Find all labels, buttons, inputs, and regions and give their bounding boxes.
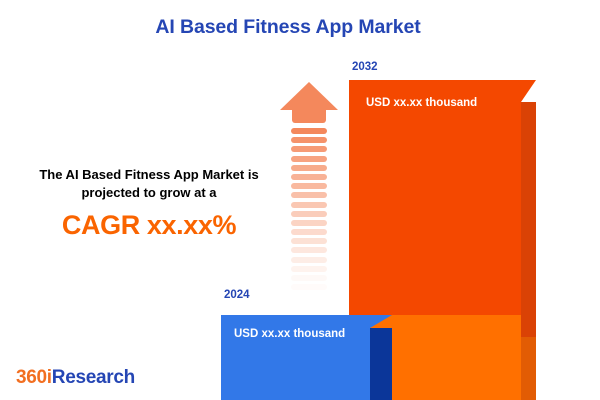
bar-2024-value-label: USD xx.xx thousand [234,328,345,340]
infographic-canvas: AI Based Fitness App Market The AI Based… [0,0,600,400]
arrow-segment [291,229,327,235]
arrow-segment [291,284,327,290]
arrow-segment [291,174,327,180]
arrow-segment [291,192,327,198]
arrow-segment [291,257,327,263]
arrow-segment [291,183,327,189]
arrow-segment [291,275,327,281]
bar-2024-year-label: 2024 [224,289,250,301]
logo-suffix: Research [52,367,135,388]
bar-2032-value-label: USD xx.xx thousand [366,97,477,109]
bar-2032-side-lower-face [521,337,536,400]
arrow-segment [291,128,327,134]
growth-arrow-icon [280,82,338,297]
arrow-head-icon [280,82,338,128]
arrow-segment [291,220,327,226]
bar-2032-year-label: 2032 [352,61,378,73]
arrow-segment [291,247,327,253]
bar-2024-side-face [370,328,392,400]
statement-lead-text: The AI Based Fitness App Market is proje… [18,166,280,201]
cagr-value: CAGR xx.xx% [18,210,280,241]
logo-prefix: 360i [16,367,52,388]
bar-2024-chamfer [370,315,392,328]
arrow-segment [291,266,327,272]
arrow-segment [291,202,327,208]
arrow-segment [291,146,327,152]
arrow-segment [291,165,327,171]
brand-logo: 360iResearch [16,367,135,389]
arrow-segment [291,156,327,162]
page-title: AI Based Fitness App Market [0,16,576,39]
bar-2032-chamfer [521,80,536,102]
arrow-segment [291,211,327,217]
arrow-segment [291,137,327,143]
arrow-triangle [280,82,338,110]
arrow-gradient-bars [291,128,327,293]
arrow-segment [291,238,327,244]
statement-block: The AI Based Fitness App Market is proje… [18,166,280,241]
arrow-neck [292,109,326,123]
